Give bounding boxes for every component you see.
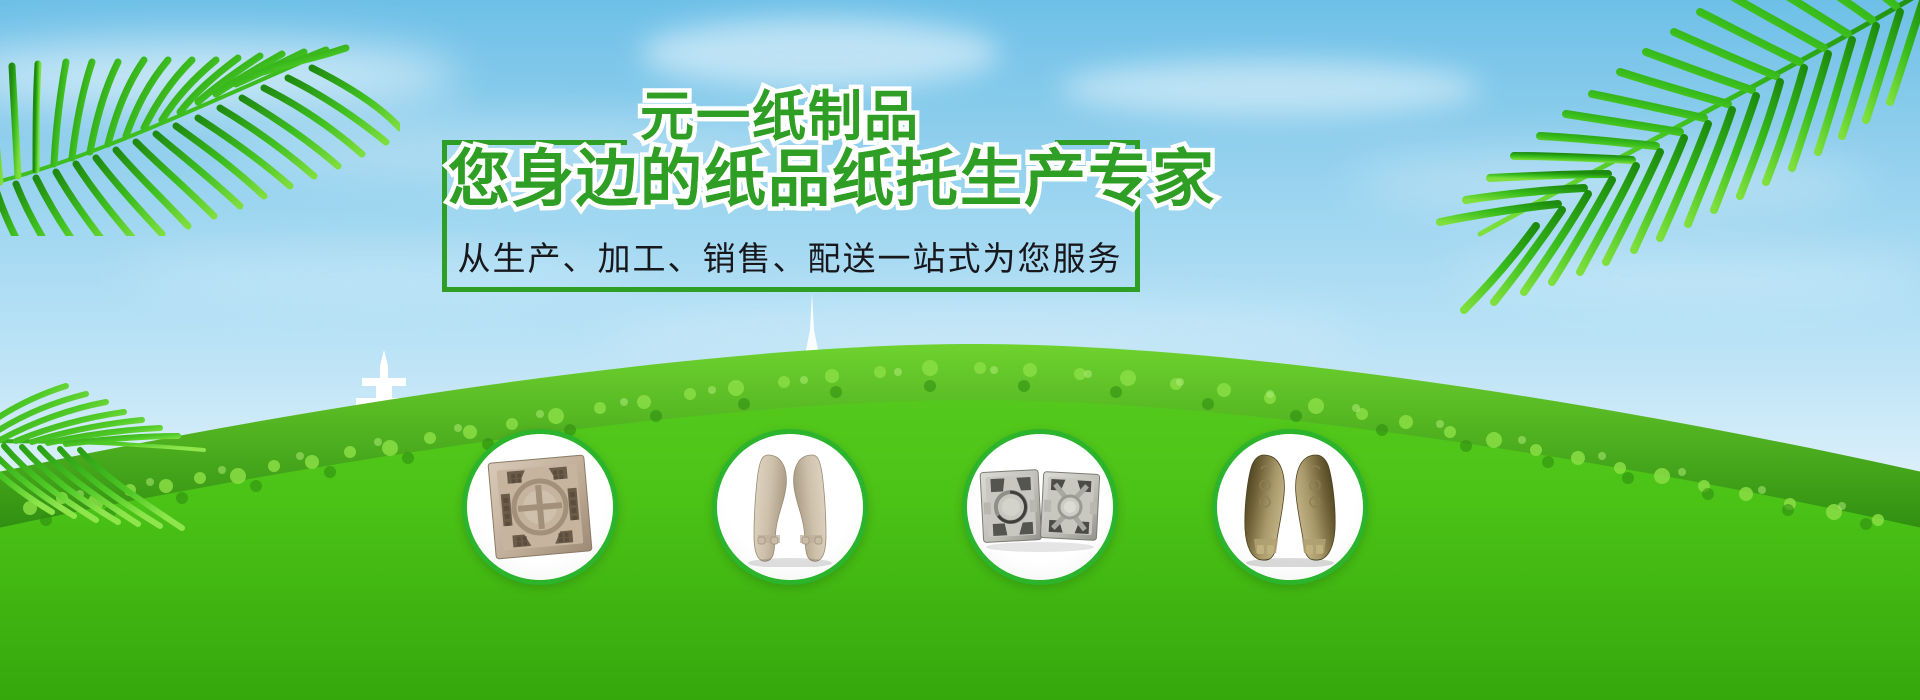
cloud-icon [1350, 150, 1870, 212]
green-hill-shape [0, 280, 1920, 700]
cloud-icon [0, 40, 460, 110]
palm-frond-icon [1300, 0, 1920, 364]
product-circle-pulp-shoe-forms-dark[interactable] [1212, 429, 1368, 585]
gray-pulp-trays-icon [978, 457, 1102, 557]
dark-pulp-shoe-forms-icon [1232, 447, 1348, 567]
frame-bottom-edge [442, 287, 1140, 292]
product-circle-square-pulp-tray[interactable] [462, 429, 618, 585]
product-circle-pulp-shoe-forms-light[interactable] [712, 429, 868, 585]
square-pulp-tray-icon [484, 451, 596, 563]
pulp-shoe-forms-icon [734, 447, 846, 567]
product-image-pulp-shoe-forms-dark [1217, 434, 1363, 580]
headline-line-2-fill: 您身边的纸品纸托生产专家 [448, 128, 1216, 218]
palm-frond-icon [0, 0, 400, 236]
product-image-square-pulp-tray [467, 434, 613, 580]
promotional-banner: 元一纸制品 元一纸制品 您身边的纸品纸托生产专家 您身边的纸品纸托生产专家 从生… [0, 0, 1920, 700]
headline-block: 元一纸制品 元一纸制品 您身边的纸品纸托生产专家 您身边的纸品纸托生产专家 [440, 70, 1140, 250]
banner-subtitle: 从生产、加工、销售、配送一站式为您服务 [0, 232, 1580, 280]
product-circle-gray-pulp-packaging-trays[interactable] [962, 429, 1118, 585]
product-image-gray-pulp-packaging-trays [967, 434, 1113, 580]
product-image-pulp-shoe-forms-light [717, 434, 863, 580]
palm-frond-icon [0, 330, 248, 560]
cloud-icon [600, 300, 1360, 360]
